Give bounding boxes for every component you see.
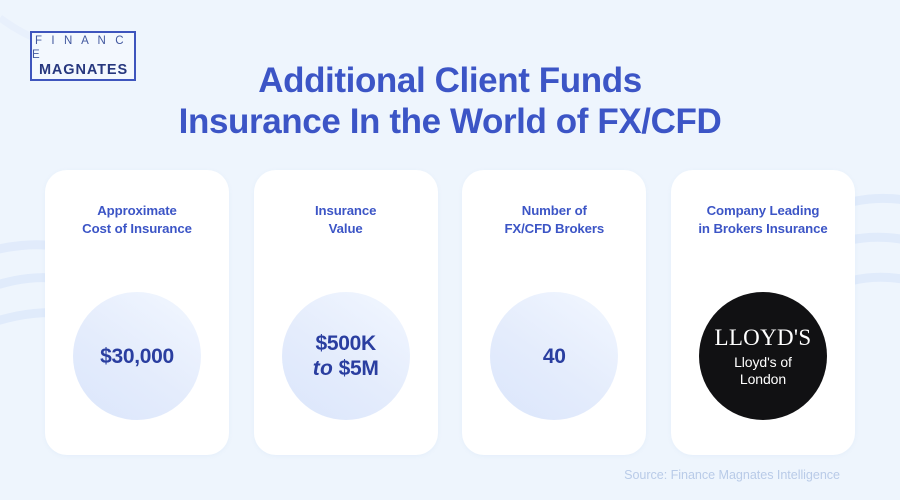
stat-value-bubble: 40 bbox=[490, 292, 618, 420]
stat-value-range-connector: to bbox=[313, 357, 333, 380]
stat-card-heading: Approximate Cost of Insurance bbox=[53, 202, 221, 237]
stat-value-line-1: $30,000 bbox=[100, 344, 174, 369]
lloyds-subtitle-line-1: Lloyd's of bbox=[734, 354, 792, 371]
stat-card-heading-line-1: Approximate bbox=[53, 202, 221, 220]
stat-value-line-1: $500K bbox=[313, 331, 379, 356]
stat-value: 40 bbox=[543, 344, 566, 369]
stat-card-insurance-value: Insurance Value $500K to $5M bbox=[254, 170, 438, 455]
source-attribution: Source: Finance Magnates Intelligence bbox=[624, 468, 840, 482]
stat-card-heading-line-1: Company Leading bbox=[679, 202, 847, 220]
stat-card-heading-line-1: Insurance bbox=[262, 202, 430, 220]
lloyds-subtitle: Lloyd's of London bbox=[734, 354, 792, 387]
page-title-line-2: Insurance In the World of FX/CFD bbox=[0, 101, 900, 142]
lloyds-subtitle-line-2: London bbox=[734, 371, 792, 388]
stat-card-heading: Company Leading in Brokers Insurance bbox=[679, 202, 847, 237]
stat-value-bubble: $500K to $5M bbox=[282, 292, 410, 420]
stat-value-line-2: to $5M bbox=[313, 356, 379, 381]
stat-card-leading-company: Company Leading in Brokers Insurance LLO… bbox=[671, 170, 855, 455]
stat-card-heading: Insurance Value bbox=[262, 202, 430, 237]
stat-card-cost-of-insurance: Approximate Cost of Insurance $30,000 bbox=[45, 170, 229, 455]
stat-value-bubble: $30,000 bbox=[73, 292, 201, 420]
stat-card-heading-line-1: Number of bbox=[470, 202, 638, 220]
stat-value: $30,000 bbox=[100, 344, 174, 369]
stat-card-heading: Number of FX/CFD Brokers bbox=[470, 202, 638, 237]
lloyds-wordmark: LLOYD'S bbox=[714, 325, 811, 350]
lloyds-logo-bubble: LLOYD'S Lloyd's of London bbox=[699, 292, 827, 420]
stat-value-line-1: 40 bbox=[543, 344, 566, 369]
stat-card-heading-line-2: FX/CFD Brokers bbox=[470, 220, 638, 238]
stat-card-heading-line-2: Cost of Insurance bbox=[53, 220, 221, 238]
page-title-line-1: Additional Client Funds bbox=[0, 60, 900, 101]
stat-value-range-upper: $5M bbox=[339, 357, 379, 380]
page-title: Additional Client Funds Insurance In the… bbox=[0, 60, 900, 142]
stat-card-heading-line-2: in Brokers Insurance bbox=[679, 220, 847, 238]
logo-wordmark-finance: F I N A N C E bbox=[32, 34, 134, 62]
stat-value: $500K to $5M bbox=[313, 331, 379, 381]
stat-card-row: Approximate Cost of Insurance $30,000 In… bbox=[45, 170, 855, 455]
stat-card-number-of-brokers: Number of FX/CFD Brokers 40 bbox=[462, 170, 646, 455]
stat-card-heading-line-2: Value bbox=[262, 220, 430, 238]
